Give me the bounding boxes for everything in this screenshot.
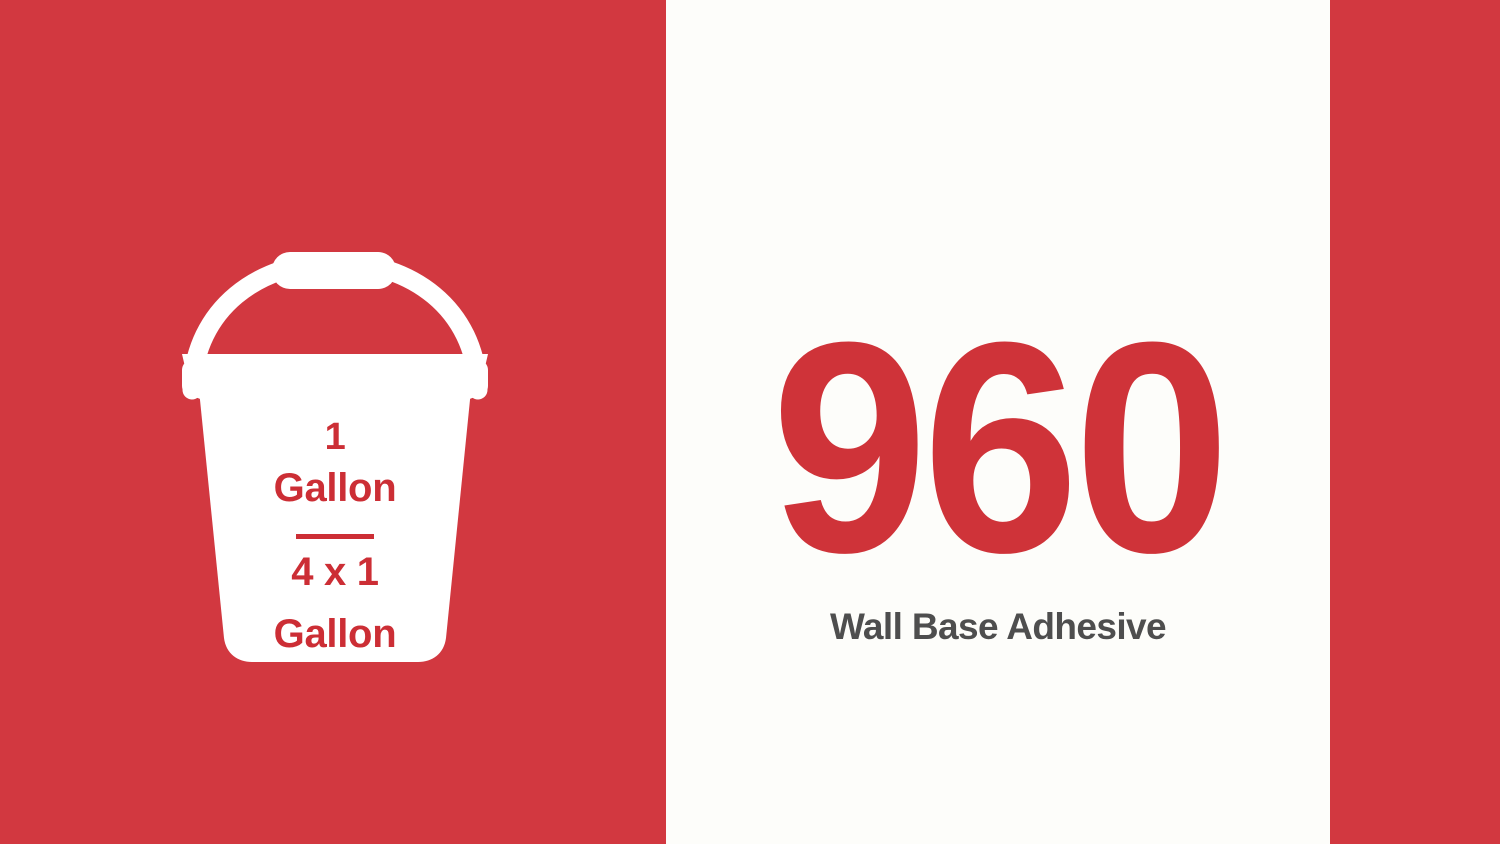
bucket-handle-grip <box>272 252 396 289</box>
stat-block: 960 Wall Base Adhesive <box>666 330 1330 648</box>
product-spec-graphic: 1 Gallon 4 x 1 Gallon 960 Wall Base Adhe… <box>0 0 1500 844</box>
bucket-body <box>198 380 472 662</box>
bucket-illustration: 1 Gallon 4 x 1 Gallon <box>150 230 520 670</box>
bucket-icon <box>150 230 520 670</box>
right-red-stripe <box>1330 0 1500 844</box>
stat-number: 960 <box>686 330 1310 564</box>
